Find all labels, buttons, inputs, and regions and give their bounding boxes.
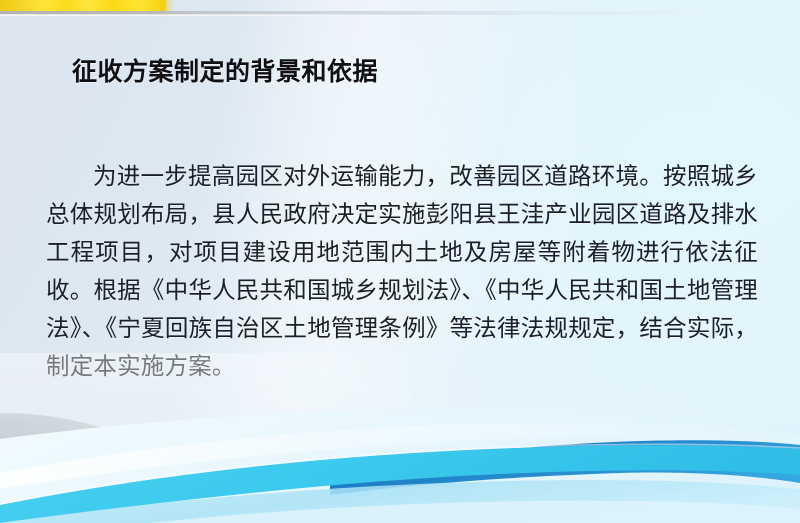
header-divider-highlight <box>0 14 520 16</box>
blue-wave-graphic <box>0 323 800 523</box>
gold-accent-bar-fade <box>160 0 174 11</box>
presentation-slide: 征收方案制定的背景和依据 为进一步提高园区对外运输能力，改善园区道路环境。按照城… <box>0 0 800 523</box>
page-title: 征收方案制定的背景和依据 <box>72 52 378 88</box>
gold-accent-bar <box>0 0 166 11</box>
